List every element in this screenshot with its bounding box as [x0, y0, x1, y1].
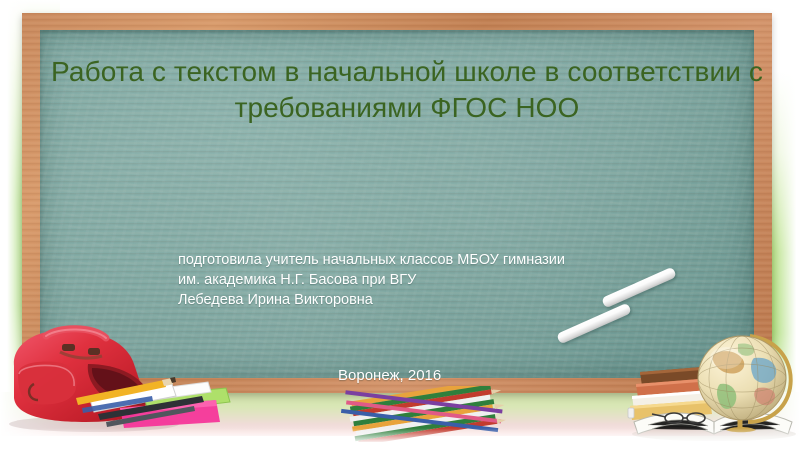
- page-title: Работа с текстом в начальной школе в соо…: [40, 54, 774, 126]
- globe-books-illustration: [622, 330, 798, 442]
- place-and-year: Воронеж, 2016: [338, 366, 441, 386]
- red-school-backpack: [2, 322, 232, 434]
- globe-and-books: [622, 330, 798, 442]
- backpack-illustration: [2, 322, 232, 434]
- slide-canvas: Работа с текстом в начальной школе в соо…: [0, 0, 800, 450]
- colored-pencils-fan: [340, 386, 510, 442]
- pencils-illustration: [340, 386, 510, 442]
- author-credits: подготовила учитель начальных классов МБ…: [178, 250, 648, 310]
